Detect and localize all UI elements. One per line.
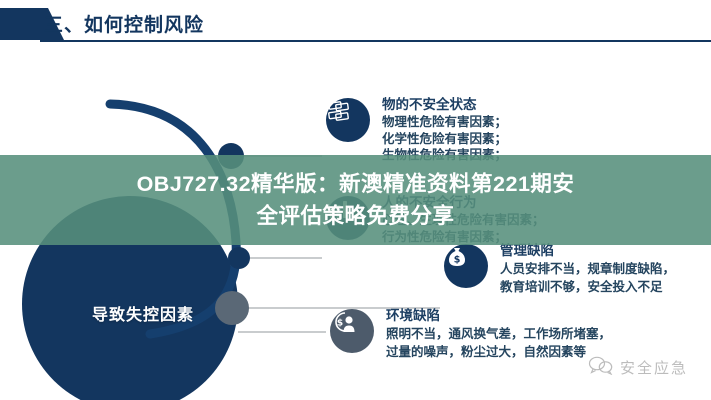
risk-item-env-line-0: 照明不当，通风换气差，工作场所堵塞， <box>386 325 611 343</box>
risk-item-manage-line-0: 人员安排不当，规章制度缺陷， <box>500 260 675 278</box>
overlay-line-2: 全评估策略免费分享 <box>256 200 454 232</box>
risk-item-env-text: 环境缺陷 照明不当，通风换气差，工作场所堵塞， 过量的噪声，粉尘过大，自然因素等 <box>386 307 611 361</box>
risk-item-things-title: 物的不安全状态 <box>382 96 507 113</box>
risk-item-env-line-1: 过量的噪声，粉尘过大，自然因素等 <box>386 343 611 361</box>
cash-stack-icon <box>326 98 370 142</box>
risk-item-things-line-0: 物理性危险有害因素； <box>382 114 507 131</box>
risk-item-things-line-1: 化学性危险有害因素； <box>382 131 507 148</box>
watermark: 安全应急 <box>588 355 688 380</box>
person-dollar-icon: $ <box>330 309 374 353</box>
svg-text:$: $ <box>337 319 343 329</box>
risk-item-env-title: 环境缺陷 <box>386 307 611 324</box>
risk-item-manage-line-1: 教育培训不够，安全投入不足 <box>500 278 675 296</box>
slide-header: 三、如何控制风险 <box>0 0 711 46</box>
money-bag-icon: $ <box>444 244 488 288</box>
arc-node-people <box>228 247 250 269</box>
overlay-line-1: OBJ727.32精华版：新澳精准资料第221期安 <box>137 168 575 200</box>
risk-item-things-text: 物的不安全状态 物理性危险有害因素； 化学性危险有害因素； 生物性危险有害因素； <box>382 96 507 164</box>
svg-text:$: $ <box>454 255 461 266</box>
overlay-banner-text: OBJ727.32精华版：新澳精准资料第221期安 全评估策略免费分享 <box>0 155 711 245</box>
page-title: 三、如何控制风险 <box>44 10 204 37</box>
header-divider <box>40 40 711 42</box>
wechat-icon <box>588 355 614 380</box>
risk-item-manage-text: 管理缺陷 人员安排不当，规章制度缺陷， 教育培训不够，安全投入不足 <box>500 242 675 296</box>
center-disc-label: 导致失控因素 <box>92 301 194 325</box>
arc-node-manage <box>215 291 249 325</box>
watermark-text: 安全应急 <box>620 357 688 378</box>
slide-root: 三、如何控制风险 导致失控因素 <box>0 0 711 400</box>
